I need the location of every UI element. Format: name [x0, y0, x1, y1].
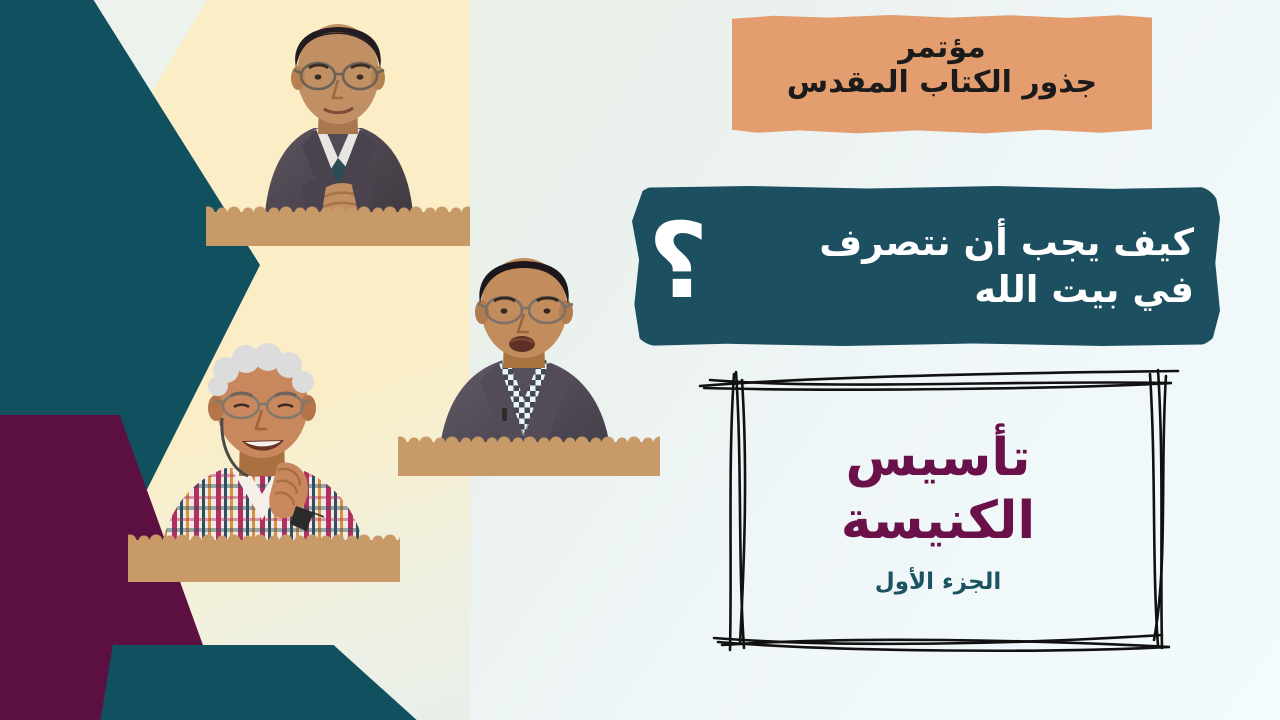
speaker-three-paper-strip: [128, 540, 400, 582]
speaker-two-image: [398, 248, 660, 476]
question-line-1: كيف يجب أن نتصرف: [714, 219, 1194, 266]
speaker-photo-two: [398, 248, 660, 476]
speaker-two-paper-strip: [398, 442, 660, 476]
speaker-one-image: [206, 8, 470, 246]
banner-line-2: جذور الكتاب المقدس: [732, 65, 1152, 100]
question-text: كيف يجب أن نتصرف في بيت الله: [714, 219, 1194, 314]
conference-banner: مؤتمر جذور الكتاب المقدس: [732, 14, 1152, 134]
frame-title-line-2: الكنيسة: [841, 490, 1036, 553]
question-panel: كيف يجب أن نتصرف في بيت الله ؟: [632, 186, 1220, 346]
question-mark-icon: ؟: [648, 219, 708, 304]
poster-canvas: مؤتمر جذور الكتاب المقدس كيف يجب أن نتصر…: [0, 0, 1280, 720]
frame-text-block: تأسيس الكنيسة الجزء الأول: [700, 382, 1176, 640]
speaker-three-image: [128, 330, 400, 582]
frame-title-line-1: تأسيس: [846, 427, 1031, 490]
frame-subtitle: الجزء الأول: [875, 569, 1001, 595]
question-line-2: في بيت الله: [714, 266, 1194, 313]
speaker-photo-one: [206, 8, 470, 246]
speaker-one-paper-strip: [206, 212, 470, 246]
banner-line-1: مؤتمر: [732, 30, 1152, 65]
speaker-photo-three: [128, 330, 400, 582]
